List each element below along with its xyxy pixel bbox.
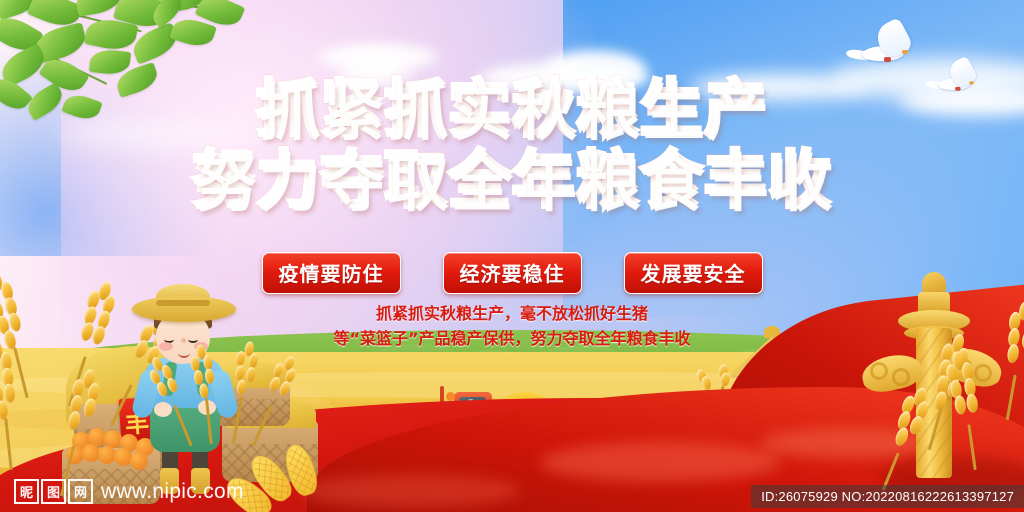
logo-char-1: 昵: [14, 479, 39, 504]
slogan-badge-1[interactable]: 疫情要防住: [262, 252, 401, 294]
image-id-bar: ID:26075929 NO:20220816222613397127: [751, 485, 1024, 508]
subtitle-line-1: 抓紧抓实秋粮生产，毫不放松抓好生猪: [0, 302, 1024, 327]
silk-fold: [300, 474, 520, 508]
title-line-2: 努力夺取全年粮食丰收: [0, 149, 1024, 211]
poster-canvas: 丰 谷: [0, 0, 1024, 512]
logo-char-2: 图: [41, 479, 66, 504]
site-watermark: 昵 图 网 www.nipic.com: [14, 479, 244, 504]
silk-fold: [540, 442, 780, 482]
poster-title: 抓紧抓实秋粮生产 努力夺取全年粮食丰收: [0, 78, 1024, 211]
title-line-2-text: 努力夺取全年粮食丰收: [192, 143, 832, 216]
watermark-url: www.nipic.com: [101, 480, 244, 504]
wheat-bundle: [178, 350, 268, 460]
logo-char-3: 网: [68, 479, 93, 504]
slogan-badge-group: 疫情要防住 经济要稳住 发展要安全: [0, 252, 1024, 294]
title-line-1: 抓紧抓实秋粮生产: [0, 78, 1024, 140]
slogan-badge-2[interactable]: 经济要稳住: [443, 252, 582, 294]
poster-subtitle: 抓紧抓实秋粮生产，毫不放松抓好生猪 等“菜篮子”产品稳产保供，努力夺取全年粮食丰…: [0, 302, 1024, 352]
title-line-1-text: 抓紧抓实秋粮生产: [256, 72, 768, 145]
slogan-badge-3[interactable]: 发展要安全: [624, 252, 763, 294]
nipic-logo: 昵 图 网: [14, 479, 93, 504]
subtitle-line-2: 等“菜篮子”产品稳产保供，努力夺取全年粮食丰收: [0, 327, 1024, 352]
